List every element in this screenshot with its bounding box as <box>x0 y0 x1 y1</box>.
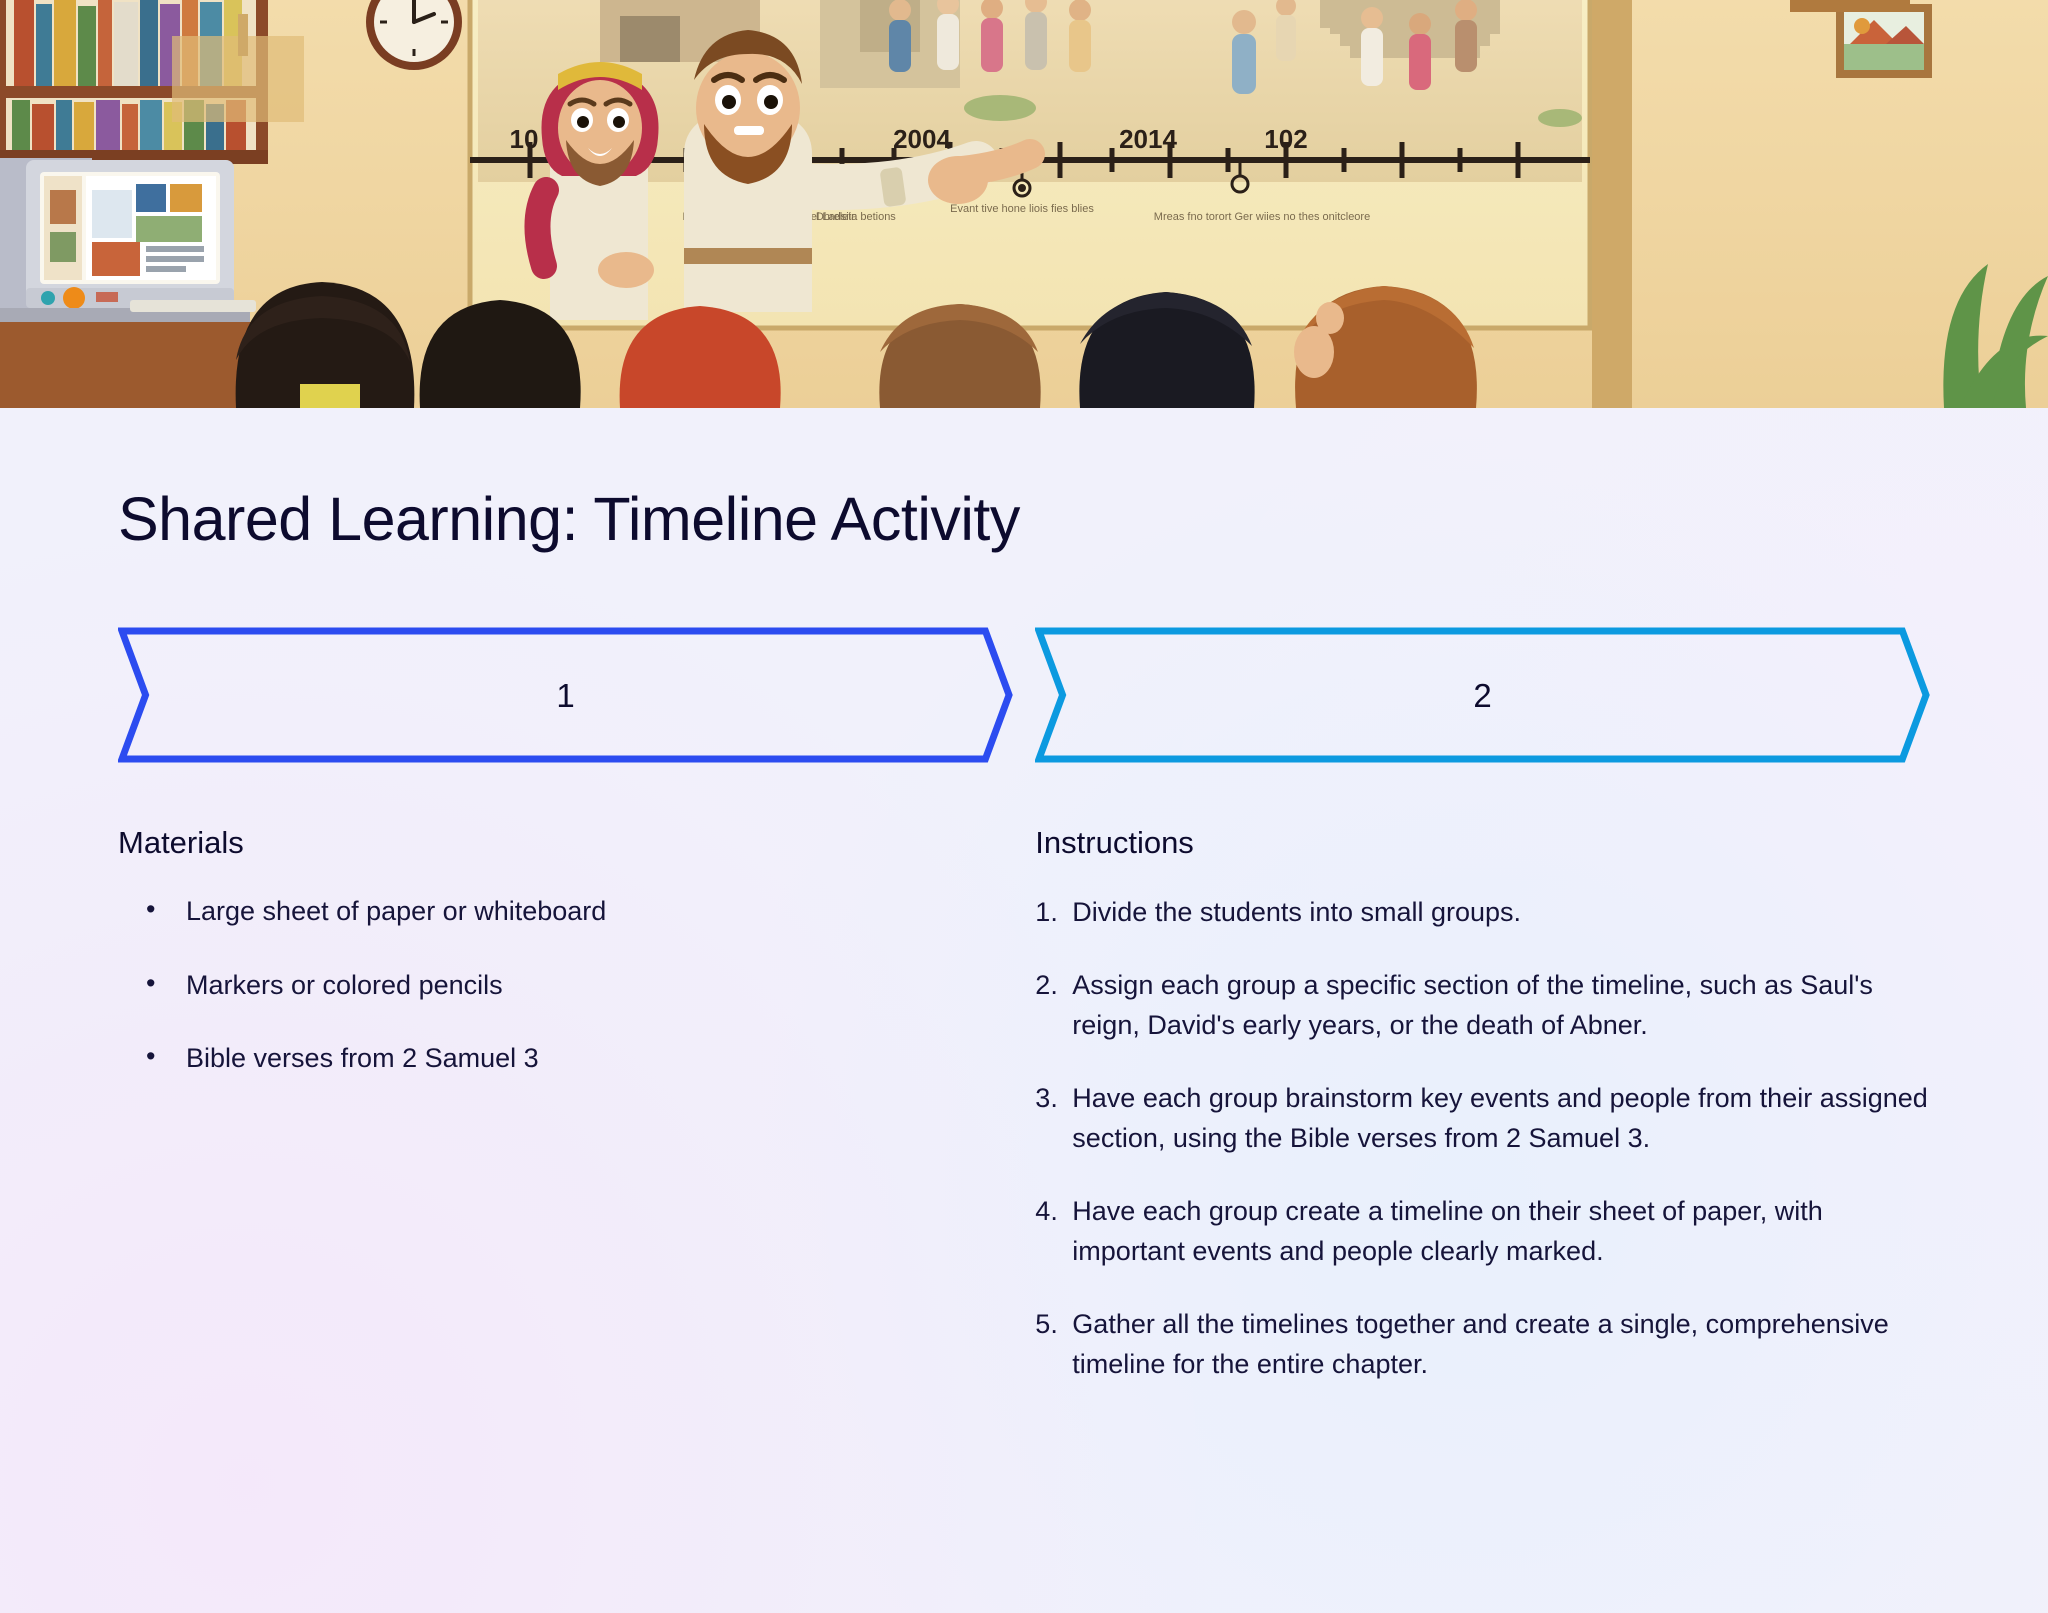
timeline-caption-4: Mreas fno torort Ger wiies no thes onitc… <box>1154 211 1370 223</box>
activity-content: Shared Learning: Timeline Activity 1 2 M… <box>0 486 2048 1418</box>
materials-heading: Materials <box>118 825 973 861</box>
hero-illustration: 10 50 2003 2004 2014 102 Heigx Manole an… <box>0 0 2048 408</box>
timeline-label-102: 102 <box>1264 124 1307 154</box>
timeline-caption-3: Evant tive hone liois fies blies <box>950 203 1094 215</box>
list-item: Have each group create a timeline on the… <box>1035 1192 1930 1272</box>
materials-list: Large sheet of paper or whiteboard Marke… <box>118 893 973 1076</box>
step-chevron-row: 1 2 <box>118 627 1930 763</box>
teacher-figure-red <box>537 62 658 320</box>
list-item: Have each group brainstorm key events an… <box>1035 1079 1930 1159</box>
timeline-label-10: 10 <box>510 124 539 154</box>
list-item: Divide the students into small groups. <box>1035 893 1930 933</box>
instructions-column: Instructions Divide the students into sm… <box>1035 825 1930 1418</box>
page-title: Shared Learning: Timeline Activity <box>118 486 1930 553</box>
step-chevron-1[interactable]: 1 <box>118 627 1013 763</box>
materials-column: Materials Large sheet of paper or whiteb… <box>118 825 1013 1418</box>
step-number-1: 1 <box>556 679 574 712</box>
step-chevron-2[interactable]: 2 <box>1035 627 1930 763</box>
columns-wrapper: Materials Large sheet of paper or whiteb… <box>118 825 1930 1418</box>
instructions-list: Divide the students into small groups. A… <box>1035 893 1930 1385</box>
list-item: Markers or colored pencils <box>118 967 973 1003</box>
timeline-label-2004: 2004 <box>893 124 951 154</box>
step-number-2: 2 <box>1473 679 1491 712</box>
list-item: Assign each group a specific section of … <box>1035 966 1930 1046</box>
hero-illustration-graphic: 10 50 2003 2004 2014 102 Heigx Manole an… <box>0 0 2048 408</box>
list-item: Bible verses from 2 Samuel 3 <box>118 1040 973 1076</box>
instructions-heading: Instructions <box>1035 825 1930 861</box>
list-item: Gather all the timelines together and cr… <box>1035 1305 1930 1385</box>
timeline-label-2014: 2014 <box>1119 124 1177 154</box>
list-item: Large sheet of paper or whiteboard <box>118 893 973 929</box>
